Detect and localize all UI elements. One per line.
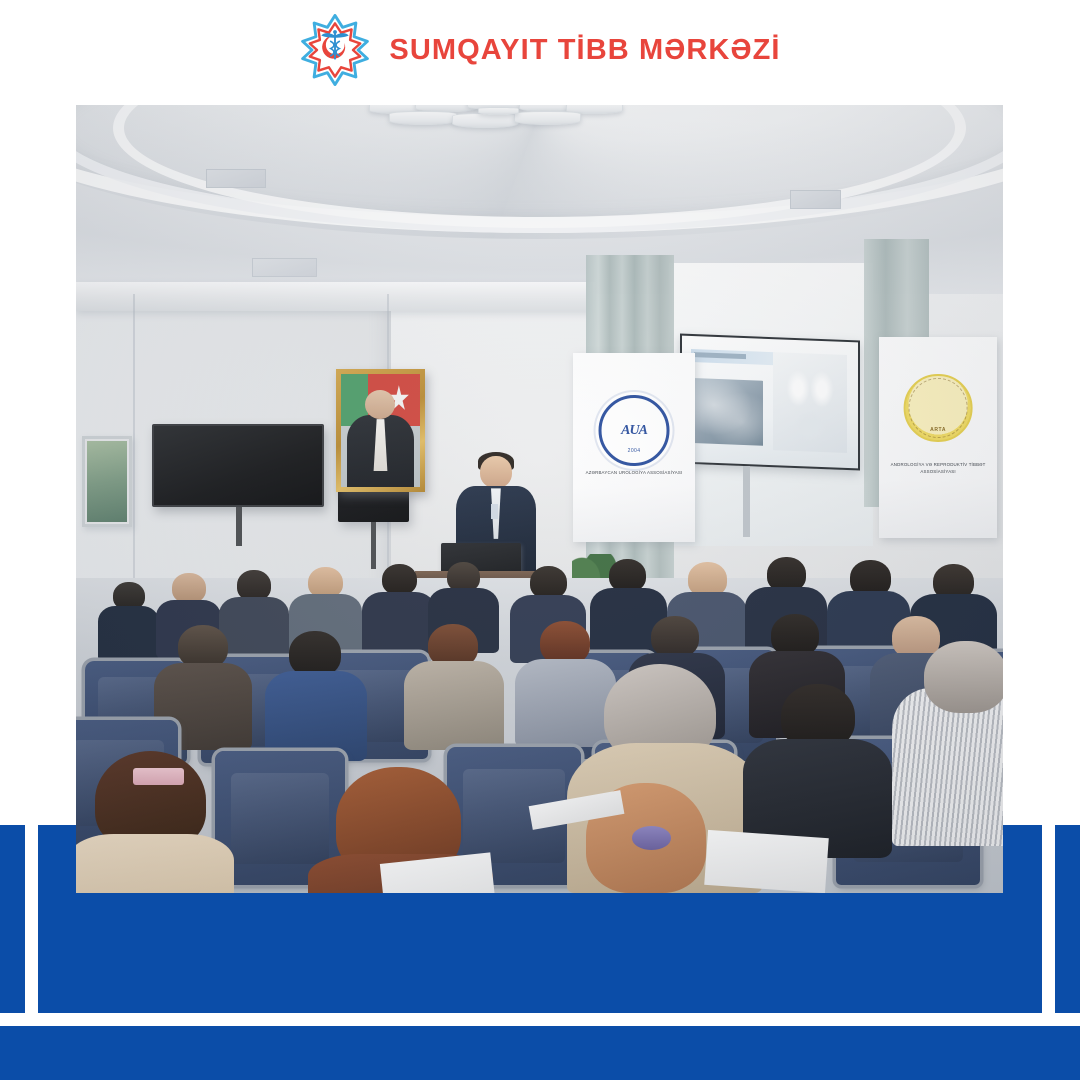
slide-ct-scan-image bbox=[774, 352, 848, 453]
footer-gap-right bbox=[1042, 825, 1055, 1013]
tv-mount bbox=[236, 507, 242, 546]
slide-title-bar bbox=[691, 349, 775, 366]
conference-photo: AUA 2004 AZƏRBAYCAN UROLOGİYA ASSOSİASİY… bbox=[76, 105, 1003, 893]
footer-gap-bottom bbox=[0, 1013, 1080, 1026]
projection-screen-stand bbox=[743, 466, 749, 537]
arta-caption: ANDROLOGİYA VƏ REPRODUKTİV TİBBƏT ASSOSİ… bbox=[888, 462, 988, 476]
wall-art-frame bbox=[82, 436, 132, 527]
wall-soffit bbox=[76, 282, 595, 310]
slide-ultrasound-image bbox=[693, 378, 763, 446]
arta-abbr: ARTA bbox=[879, 427, 998, 433]
footer-gap-left bbox=[25, 825, 38, 1013]
brand-title: SUMQAYIT TİBB MƏRKƏZİ bbox=[389, 36, 780, 65]
speaker-mount bbox=[371, 522, 376, 569]
banner-arta: ARTA ANDROLOGİYA VƏ REPRODUKTİV TİBBƏT A… bbox=[879, 337, 998, 538]
aua-caption: AZƏRBAYCAN UROLOGİYA ASSOSİASİYASI bbox=[583, 470, 686, 477]
post-header: SUMQAYIT TİBB MƏRKƏZİ bbox=[0, 0, 1080, 100]
ceiling-vent-right bbox=[790, 190, 841, 209]
eight-point-star-caduceus-logo bbox=[299, 14, 371, 86]
handout-page bbox=[705, 830, 829, 893]
aua-logo-icon: AUA bbox=[599, 395, 670, 466]
wall-seam-b bbox=[133, 294, 135, 593]
flat-screen-tv bbox=[152, 424, 324, 507]
framed-portrait bbox=[336, 369, 426, 492]
social-post-canvas: SUMQAYIT TİBB MƏRKƏZİ bbox=[0, 0, 1080, 1080]
aua-year: 2004 bbox=[573, 448, 695, 454]
ceiling-vent-left bbox=[206, 169, 266, 188]
banner-aua: AUA 2004 AZƏRBAYCAN UROLOGİYA ASSOSİASİY… bbox=[573, 353, 695, 542]
hair-scrunchie bbox=[632, 826, 671, 850]
chandelier-icon bbox=[363, 105, 623, 128]
hair-clip bbox=[133, 768, 183, 785]
photo-scene: AUA 2004 AZƏRBAYCAN UROLOGİYA ASSOSİASİY… bbox=[76, 105, 1003, 893]
projection-screen bbox=[680, 334, 860, 471]
ceiling-vent-left-2 bbox=[252, 258, 317, 277]
